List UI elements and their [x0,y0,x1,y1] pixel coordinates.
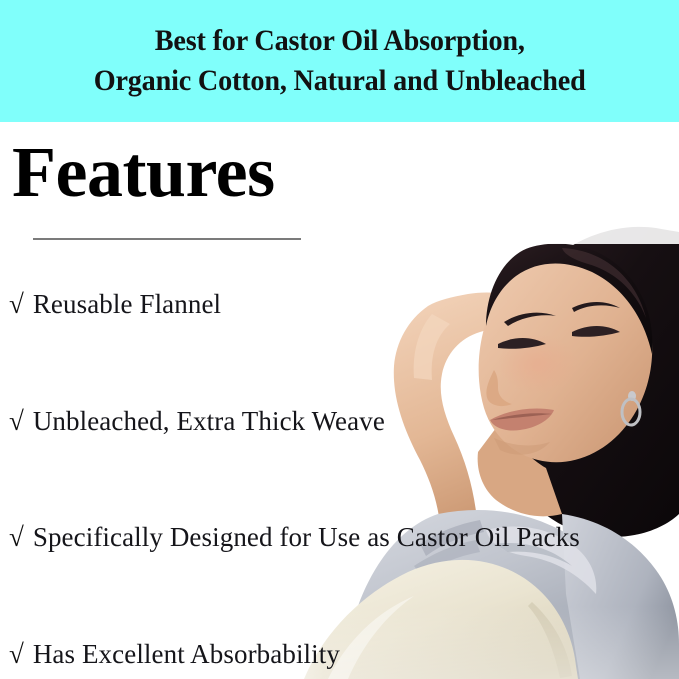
relaxing-woman-illustration [232,214,679,679]
feature-label: Has Excellent Absorbability [33,641,340,668]
list-item: √ Reusable Flannel [9,291,221,318]
banner-line-2: Organic Cotton, Natural and Unbleached [94,61,586,101]
list-item: √ Has Excellent Absorbability [9,641,340,668]
lifestyle-photo [232,214,679,679]
product-feature-card: Best for Castor Oil Absorption, Organic … [0,0,679,679]
page-title: Features [12,134,275,210]
check-icon: √ [9,291,24,318]
feature-label: Unbleached, Extra Thick Weave [33,408,385,435]
check-icon: √ [9,524,24,551]
list-item: √ Unbleached, Extra Thick Weave [9,408,385,435]
list-item: √ Specifically Designed for Use as Casto… [9,524,580,551]
check-icon: √ [9,641,24,668]
feature-label: Reusable Flannel [33,291,221,318]
top-banner: Best for Castor Oil Absorption, Organic … [0,0,679,122]
title-divider [33,238,301,240]
feature-label: Specifically Designed for Use as Castor … [33,524,580,551]
check-icon: √ [9,408,24,435]
banner-line-1: Best for Castor Oil Absorption, [155,21,525,61]
